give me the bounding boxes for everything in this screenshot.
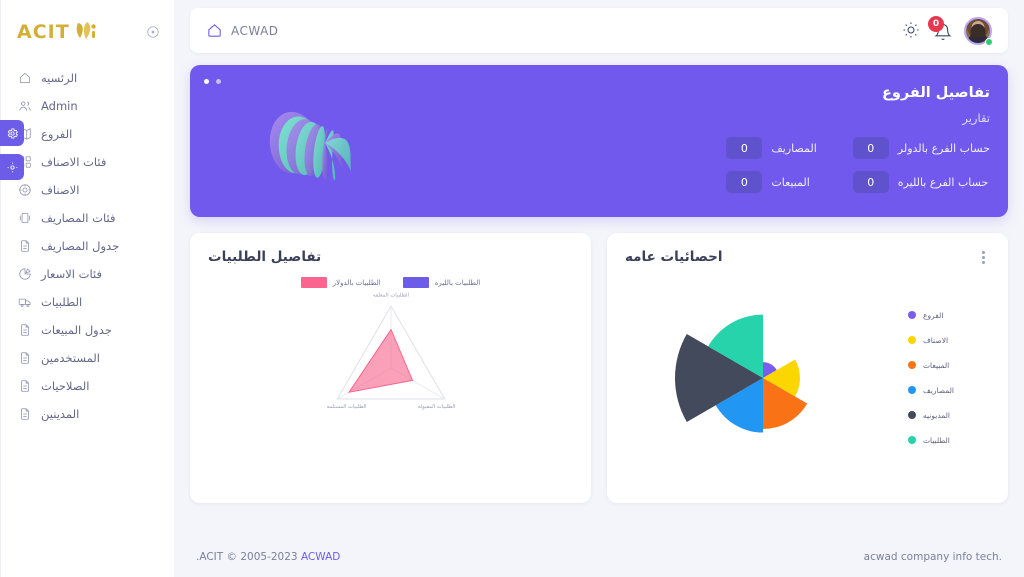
stat-label: حساب الفرع بالدولر <box>898 142 990 155</box>
sidebar-item-permissions[interactable]: الصلاحيات <box>1 372 174 400</box>
online-status-dot <box>985 38 993 46</box>
truck-icon <box>17 295 32 310</box>
footer-copyright: .ACIT © 2005-2023 <box>196 551 298 563</box>
gear-icon <box>6 127 19 140</box>
carousel-dot-1[interactable] <box>216 79 221 84</box>
rose-chart-legend: الفروع الاصناف المبيعات المصاريف <box>904 311 994 445</box>
carousel-dot-2[interactable] <box>204 79 209 84</box>
banner-stats: حساب الفرع بالدولر 0 المصاريف 0 حساب الف… <box>726 137 990 193</box>
sidebar-nav: الرئسيه Admin الفروع فئات الاصناف الاصنا… <box>1 64 174 428</box>
file-icon <box>17 407 32 422</box>
gear-alt-icon-tab[interactable] <box>0 154 24 180</box>
banner-subtitle: تقارير <box>962 111 990 125</box>
legend-item[interactable]: الفروع <box>908 311 994 320</box>
footer-right: .ACIT © 2005-2023 ACWAD <box>196 551 340 563</box>
legend-swatch <box>908 336 916 344</box>
stat-value: 0 <box>853 137 889 159</box>
legend-label: المصاريف <box>923 386 954 395</box>
orders-details-card: تفاصيل الطلبيات الطلبيات بالليره الطلبيا… <box>190 233 591 503</box>
legend-item[interactable]: الطلبيات بالليره <box>403 277 480 288</box>
sidebar-item-sales-table[interactable]: جدول المبيعات <box>1 316 174 344</box>
cards-row: احصائيات عامه الفروع الاصناف المبي <box>190 233 1008 503</box>
footer-brand-link[interactable]: ACWAD <box>301 551 340 563</box>
general-statistics-card: احصائيات عامه الفروع الاصناف المبي <box>607 233 1008 503</box>
notification-badge: 0 <box>928 16 944 32</box>
legend-item[interactable]: المبيعات <box>908 361 994 370</box>
banner-decorative-illustration <box>250 73 400 213</box>
file-icon <box>17 379 32 394</box>
sidebar-logo[interactable]: ACIT <box>17 20 101 44</box>
theme-toggle-button[interactable] <box>900 21 920 41</box>
avatar[interactable] <box>964 17 992 45</box>
banner-title: تفاصيل الفروع <box>882 85 990 101</box>
legend-item[interactable]: الاصناف <box>908 336 994 345</box>
radar-chart-legend: الطلبيات بالليره الطلبيات بالدولار <box>190 277 591 288</box>
gear-icon-tab[interactable] <box>0 120 24 146</box>
legend-swatch <box>908 311 916 319</box>
sidebar-item-users[interactable]: المستخدمين <box>1 344 174 372</box>
acit-logo-mark <box>75 20 101 44</box>
notifications-button[interactable]: 0 <box>932 20 952 42</box>
legend-item[interactable]: المصاريف <box>908 386 994 395</box>
gear-alt-icon <box>6 161 19 174</box>
legend-item[interactable]: المديونيه <box>908 411 994 420</box>
rose-chart-svg[interactable] <box>663 283 863 473</box>
sidebar-item-label: فئات المصاريف <box>41 211 115 225</box>
card-title: تفاصيل الطلبيات <box>208 249 321 265</box>
rose-chart-body: الفروع الاصناف المبيعات المصاريف <box>607 265 1008 490</box>
sidebar-item-label: فئات الاسعار <box>41 267 102 281</box>
sidebar-item-debtors[interactable]: المدينين <box>1 400 174 428</box>
footer-left-text: .acwad company info tech <box>864 551 1002 563</box>
legend-label: الاصناف <box>923 336 948 345</box>
sidebar-item-label: Admin <box>41 99 78 113</box>
stat-item: حساب الفرع بالدولر 0 <box>853 137 990 159</box>
sidebar-item-home[interactable]: الرئسيه <box>1 64 174 92</box>
legend-swatch <box>301 277 327 288</box>
stat-label: المبيعات <box>771 176 809 189</box>
card-header: احصائيات عامه <box>607 233 1008 265</box>
radar-chart-body: الطلبيات بالليره الطلبيات بالدولار الطلب… <box>190 277 591 502</box>
file-icon <box>17 239 32 254</box>
svg-text:الطلبيات المقبوله: الطلبيات المقبوله <box>417 404 455 410</box>
top-bar-left: 0 <box>900 17 992 45</box>
topbar-brand-label: ACWAD <box>231 24 279 38</box>
home-icon[interactable] <box>206 22 223 39</box>
sidebar-item-branches[interactable]: الفروع <box>1 120 174 148</box>
sidebar-item-label: الفروع <box>41 127 72 141</box>
sidebar-item-label: الصلاحيات <box>41 379 89 393</box>
sidebar-item-label: الطلبيات <box>41 295 82 309</box>
stat-label: حساب الفرع بالليره <box>898 176 988 189</box>
stat-item: المصاريف 0 <box>726 137 816 159</box>
home-icon <box>17 71 32 86</box>
sidebar-item-label: الرئسيه <box>41 71 77 85</box>
legend-swatch <box>908 386 916 394</box>
sidebar-logo-text: ACIT <box>17 21 70 43</box>
stat-item: حساب الفرع بالليره 0 <box>853 171 990 193</box>
svg-text:الطلبيات المستلمه: الطلبيات المستلمه <box>326 404 366 410</box>
legend-label: الطلبيات بالليره <box>435 279 480 287</box>
radar-chart-plot: الطلبيات المعلقهالطلبيات المقبولهالطلبيا… <box>190 290 591 450</box>
main-content: 0 ACWAD تفاصيل الفروع تقارير <box>174 0 1024 577</box>
stat-value: 0 <box>726 137 762 159</box>
pie-icon <box>17 267 32 282</box>
sidebar-item-items[interactable]: الاصناف <box>1 176 174 204</box>
card-title: احصائيات عامه <box>625 249 722 265</box>
legend-swatch <box>908 411 916 419</box>
footer: .acwad company info tech .ACIT © 2005-20… <box>174 537 1024 577</box>
legend-swatch <box>908 436 916 444</box>
stat-label: المصاريف <box>771 142 816 155</box>
sidebar: ACIT الرئسيه Admin الفروع فئات الاصناف <box>0 0 174 577</box>
legend-label: المبيعات <box>923 361 949 370</box>
sidebar-item-admin[interactable]: Admin <box>1 92 174 120</box>
legend-swatch <box>908 361 916 369</box>
sidebar-item-label: الاصناف <box>41 183 79 197</box>
rose-chart-plot <box>621 283 904 473</box>
sidebar-header: ACIT <box>1 10 174 50</box>
legend-item[interactable]: الطلبيات بالدولار <box>301 277 381 288</box>
legend-label: الفروع <box>923 311 943 320</box>
legend-swatch <box>403 277 429 288</box>
legend-item[interactable]: الطلبيات <box>908 436 994 445</box>
card-header: تفاصيل الطلبيات <box>190 233 591 265</box>
branch-details-banner: تفاصيل الفروع تقارير حساب الفرع بالدولر … <box>190 65 1008 217</box>
sidebar-item-label: فئات الاصناف <box>41 155 106 169</box>
svg-text:الطلبيات المعلقه: الطلبيات المعلقه <box>373 293 409 299</box>
stat-value: 0 <box>853 171 889 193</box>
users-icon <box>17 99 32 114</box>
file-icon <box>17 323 32 338</box>
file-icon <box>17 351 32 366</box>
sidebar-item-label: المستخدمين <box>41 351 100 365</box>
stat-value: 0 <box>726 171 762 193</box>
sidebar-item-label: جدول المصاريف <box>41 239 119 253</box>
app-root: 0 ACWAD تفاصيل الفروع تقارير <box>0 0 1024 577</box>
layout-icon <box>17 211 32 226</box>
edge-tab-strip <box>0 120 24 188</box>
top-bar-right: ACWAD <box>206 22 279 39</box>
card-menu-button[interactable] <box>976 251 990 264</box>
carousel-dots[interactable] <box>204 79 221 84</box>
radar-chart-svg[interactable]: الطلبيات المعلقهالطلبيات المقبولهالطلبيا… <box>226 290 556 450</box>
stat-item: المبيعات 0 <box>726 171 816 193</box>
legend-label: الطلبيات بالدولار <box>333 279 381 287</box>
top-bar: 0 ACWAD <box>190 8 1008 53</box>
sidebar-item-expenses-table[interactable]: جدول المصاريف <box>1 232 174 260</box>
sidebar-item-price-categories[interactable]: فئات الاسعار <box>1 260 174 288</box>
legend-label: الطلبيات <box>923 436 950 445</box>
sun-icon <box>902 21 920 39</box>
sidebar-item-expense-categories[interactable]: فئات المصاريف <box>1 204 174 232</box>
legend-label: المديونيه <box>923 411 950 420</box>
circle-dot-icon[interactable] <box>146 25 160 39</box>
sidebar-item-orders[interactable]: الطلبيات <box>1 288 174 316</box>
sidebar-item-label: جدول المبيعات <box>41 323 112 337</box>
sidebar-item-label: المدينين <box>41 407 79 421</box>
sidebar-item-item-categories[interactable]: فئات الاصناف <box>1 148 174 176</box>
